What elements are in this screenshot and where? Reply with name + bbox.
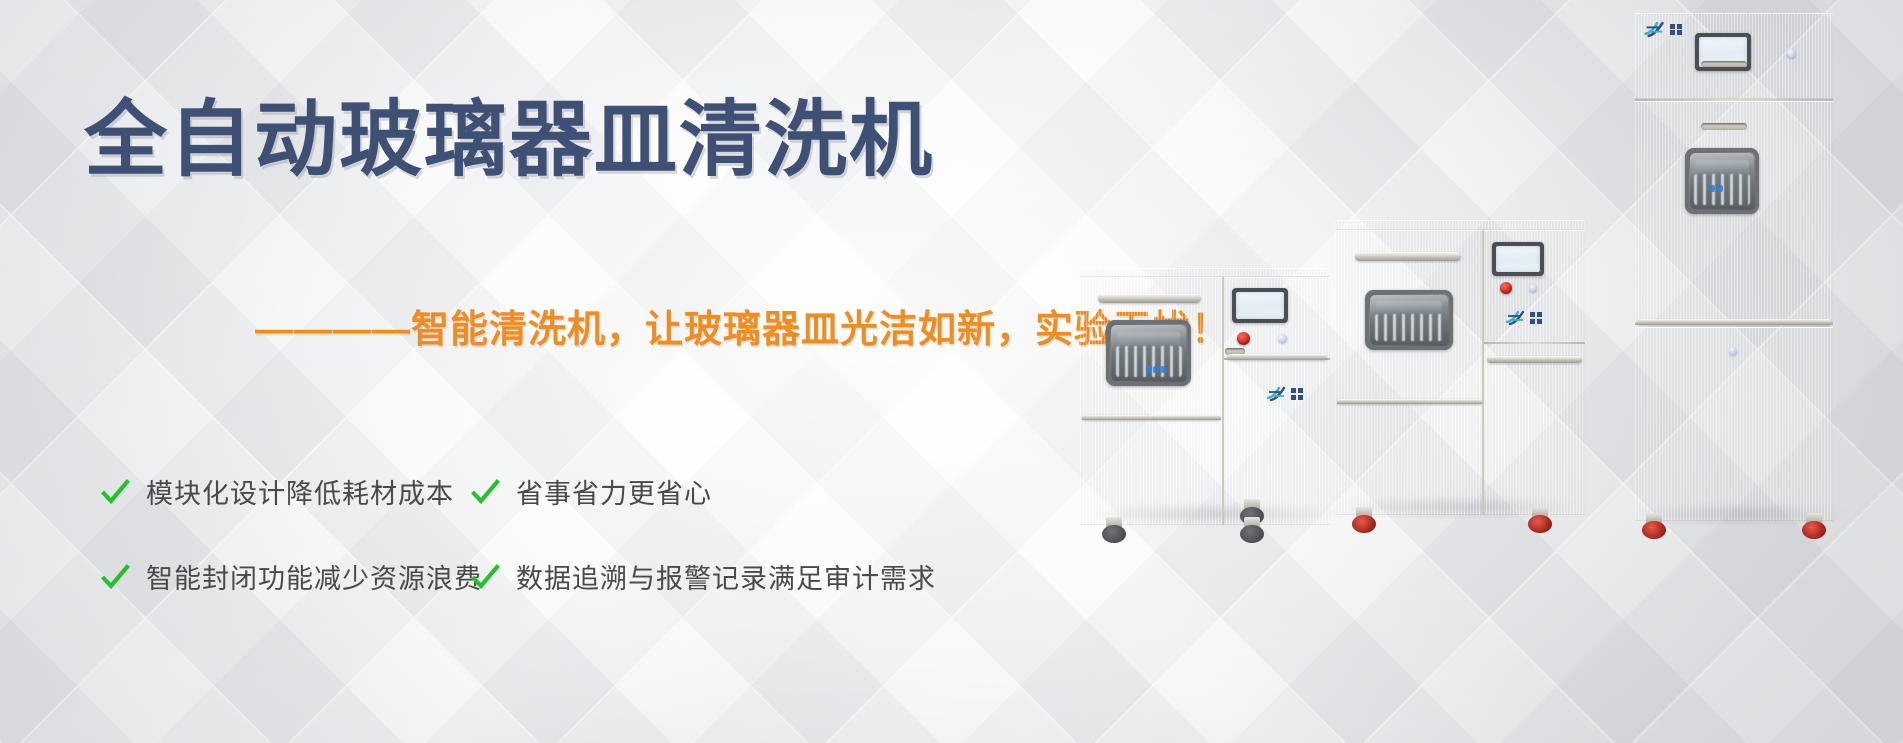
feature-label: 智能封闭功能减少资源浪费 — [146, 557, 482, 596]
machine3-caster-right — [1802, 513, 1826, 539]
product-tall-column-washer — [1635, 13, 1833, 521]
machine1-door-handle — [1098, 294, 1201, 303]
product-undercounter-washer — [1080, 268, 1330, 525]
machine1-lcd — [1236, 292, 1284, 319]
machine1-lower-handle — [1082, 415, 1221, 420]
machine3-power-button[interactable] — [1787, 49, 1796, 58]
feature-row: 模块化设计降低耗材成本 省事省力更省心 — [100, 472, 1080, 511]
page-title: 全自动玻璃器皿清洗机 — [84, 96, 934, 183]
machine2-caster-left — [1352, 507, 1376, 533]
machine2-door-panel — [1335, 230, 1483, 515]
product-hero-banner: 全自动玻璃器皿清洗机 ————智能清洗机，让玻璃器皿光洁如新，实验无忧！ 模块化… — [0, 0, 1903, 743]
machine3-chamber-vent — [1701, 123, 1747, 130]
logo-wordmark-blocks — [1670, 24, 1682, 36]
machine2-body-seam — [1482, 230, 1484, 515]
machine3-viewing-window — [1685, 148, 1759, 214]
logo-h-mark — [1266, 386, 1288, 402]
product-freestanding-washer — [1335, 220, 1585, 515]
feature-label: 省事省力更省心 — [516, 472, 712, 511]
machine3-vent-slot — [1701, 61, 1747, 67]
machine3-base-panel — [1635, 327, 1833, 521]
machine1-window-glass — [1111, 325, 1186, 381]
product-image-group — [1090, 0, 1903, 743]
machine2-control-seam — [1484, 342, 1585, 344]
machine1-blue-nozzle — [1153, 366, 1159, 373]
machine1-caster-left — [1102, 517, 1126, 543]
machine1-access-handle — [1227, 354, 1327, 360]
machine2-door-handle — [1355, 252, 1461, 261]
machine2-caster-right — [1528, 507, 1552, 533]
machine1-blue-nozzle — [1146, 366, 1152, 373]
machine3-window-glass — [1690, 153, 1754, 209]
machine1-touchscreen[interactable] — [1232, 288, 1288, 323]
brand-logo — [1505, 310, 1542, 326]
machine2-access-handle — [1487, 356, 1582, 363]
list-item: 智能封闭功能减少资源浪费 — [100, 557, 470, 596]
machine1-caster-right — [1240, 517, 1264, 543]
machine2-viewing-window — [1365, 290, 1453, 350]
list-item: 数据追溯与报警记录满足审计需求 — [470, 557, 936, 596]
logo-wordmark-blocks — [1530, 312, 1542, 324]
machine2-power-button[interactable] — [1529, 284, 1537, 292]
feature-list: 模块化设计降低耗材成本 省事省力更省心 — [100, 472, 1080, 642]
brand-logo — [1266, 386, 1303, 402]
machine3-chamber-handle — [1637, 319, 1831, 325]
machine2-lcd — [1496, 246, 1540, 272]
machine1-viewing-window — [1106, 320, 1191, 386]
check-icon — [470, 478, 500, 508]
machine3-base-latch[interactable] — [1729, 347, 1737, 355]
check-icon — [100, 563, 130, 593]
machine1-emergency-stop-button[interactable] — [1237, 332, 1250, 345]
logo-h-mark — [1643, 21, 1667, 38]
machine1-door-panel — [1080, 277, 1223, 525]
machine3-blue-nozzle — [1709, 185, 1715, 192]
machine2-top-cap — [1335, 220, 1585, 230]
logo-wordmark-blocks — [1291, 388, 1303, 400]
machine2-lower-handle — [1337, 399, 1482, 404]
check-icon — [100, 478, 130, 508]
banner-text-column: 全自动玻璃器皿清洗机 ————智能清洗机，让玻璃器皿光洁如新，实验无忧！ 模块化… — [0, 0, 1120, 743]
feature-label: 模块化设计降低耗材成本 — [146, 472, 454, 511]
machine2-glassware-rack — [1375, 314, 1444, 342]
machine3-blue-nozzle — [1717, 185, 1723, 192]
machine1-power-button[interactable] — [1278, 334, 1287, 343]
feature-label: 数据追溯与报警记录满足审计需求 — [516, 557, 936, 596]
machine2-emergency-stop-button[interactable] — [1500, 282, 1512, 294]
machine2-window-glass — [1370, 295, 1448, 345]
machine1-top-cap — [1080, 268, 1330, 277]
list-item: 省事省力更省心 — [470, 472, 712, 511]
logo-h-mark — [1505, 310, 1527, 326]
list-item: 模块化设计降低耗材成本 — [100, 472, 470, 511]
brand-logo — [1643, 21, 1682, 38]
feature-row: 智能封闭功能减少资源浪费 数据追溯与报警记录满足审计需求 — [100, 557, 1080, 596]
machine3-caster-left — [1642, 513, 1666, 539]
machine2-touchscreen[interactable] — [1492, 242, 1544, 276]
machine1-blue-nozzle — [1161, 366, 1167, 373]
check-icon — [470, 563, 500, 593]
machine1-body-seam — [1222, 277, 1224, 525]
